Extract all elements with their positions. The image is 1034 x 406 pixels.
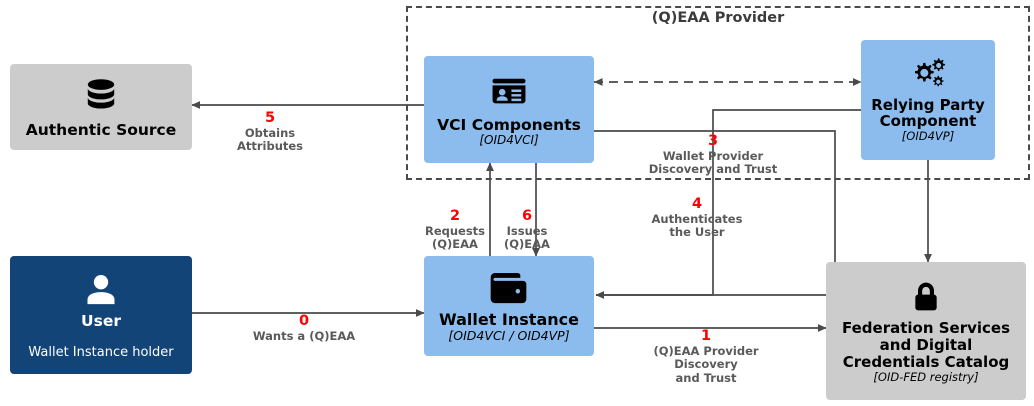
edge-4-number: 4 bbox=[598, 196, 796, 213]
database-icon bbox=[79, 75, 123, 119]
edge-4-text-line2: the User bbox=[598, 226, 796, 240]
gears-icon bbox=[907, 57, 949, 93]
node-vci-components[interactable]: VCI Components [OID4VCI] bbox=[424, 56, 594, 163]
edge-1-text-line1: (Q)EAA Provider bbox=[588, 345, 824, 359]
edge-0-number: 0 bbox=[190, 313, 418, 330]
edge-label-6: 6 Issues (Q)EAA bbox=[496, 208, 558, 252]
edge-2-number: 2 bbox=[424, 208, 486, 225]
edge-4-text-line1: Authenticates bbox=[598, 213, 796, 227]
edge-5-text-line1: Obtains bbox=[205, 127, 335, 141]
group-qeaa-provider-label: (Q)EAA Provider bbox=[406, 10, 1030, 26]
node-relying-party-sub: [OID4VP] bbox=[902, 130, 954, 143]
node-federation-title-line1: Federation Services bbox=[842, 320, 1010, 337]
edge-1-text-line2: Discovery bbox=[588, 358, 824, 372]
node-wallet-instance[interactable]: Wallet Instance [OID4VCI / OID4VP] bbox=[424, 256, 594, 356]
edge-label-0: 0 Wants a (Q)EAA bbox=[190, 313, 418, 343]
edge-2-text-line1: Requests bbox=[424, 225, 486, 239]
node-federation-title-line2: and Digital bbox=[880, 337, 973, 354]
edge-1-text-line3: and Trust bbox=[588, 372, 824, 386]
node-relying-party-title-line1: Relying Party bbox=[871, 97, 984, 114]
edge-3-text-line2: Discovery and Trust bbox=[613, 163, 813, 177]
wallet-icon bbox=[487, 268, 531, 308]
node-wallet-instance-title: Wallet Instance bbox=[439, 311, 579, 329]
id-card-icon bbox=[488, 71, 530, 113]
edge-3-text-line1: Wallet Provider bbox=[613, 150, 813, 164]
diagram-canvas: (Q)EAA Provider bbox=[0, 0, 1034, 406]
edge-label-2: 2 Requests (Q)EAA bbox=[424, 208, 486, 252]
node-federation-sub: [OID-FED registry] bbox=[873, 371, 978, 384]
node-relying-party-component[interactable]: Relying Party Component [OID4VP] bbox=[861, 40, 995, 160]
edge-label-3: 3 Wallet Provider Discovery and Trust bbox=[613, 133, 813, 177]
node-wallet-instance-sub: [OID4VCI / OID4VP] bbox=[448, 329, 569, 343]
edge-6-text-line1: Issues bbox=[496, 225, 558, 239]
node-federation-title-line3: Credentials Catalog bbox=[843, 354, 1010, 371]
edge-label-5: 5 Obtains Attributes bbox=[205, 110, 335, 154]
edge-label-1: 1 (Q)EAA Provider Discovery and Trust bbox=[588, 328, 824, 386]
edge-1-number: 1 bbox=[588, 328, 824, 345]
edge-3-number: 3 bbox=[613, 133, 813, 150]
node-authentic-source-title: Authentic Source bbox=[26, 122, 177, 139]
edge-5-number: 5 bbox=[205, 110, 335, 127]
node-user-sub: Wallet Instance holder bbox=[28, 345, 173, 360]
person-icon bbox=[81, 270, 121, 310]
node-federation-services[interactable]: Federation Services and Digital Credenti… bbox=[826, 262, 1026, 400]
edge-6-text-line2: (Q)EAA bbox=[496, 238, 558, 252]
node-vci-components-sub: [OID4VCI] bbox=[479, 134, 538, 148]
edge-0-text-line1: Wants a (Q)EAA bbox=[190, 330, 418, 344]
lock-icon bbox=[906, 278, 946, 318]
node-user[interactable]: User Wallet Instance holder bbox=[10, 256, 192, 374]
edge-label-4: 4 Authenticates the User bbox=[598, 196, 796, 240]
node-relying-party-title-line2: Component bbox=[880, 113, 977, 130]
edge-2-text-line2: (Q)EAA bbox=[424, 238, 486, 252]
edge-6-number: 6 bbox=[496, 208, 558, 225]
node-user-title: User bbox=[81, 313, 121, 330]
edge-5-text-line2: Attributes bbox=[205, 140, 335, 154]
node-authentic-source[interactable]: Authentic Source bbox=[10, 64, 192, 150]
node-vci-components-title: VCI Components bbox=[437, 117, 581, 134]
